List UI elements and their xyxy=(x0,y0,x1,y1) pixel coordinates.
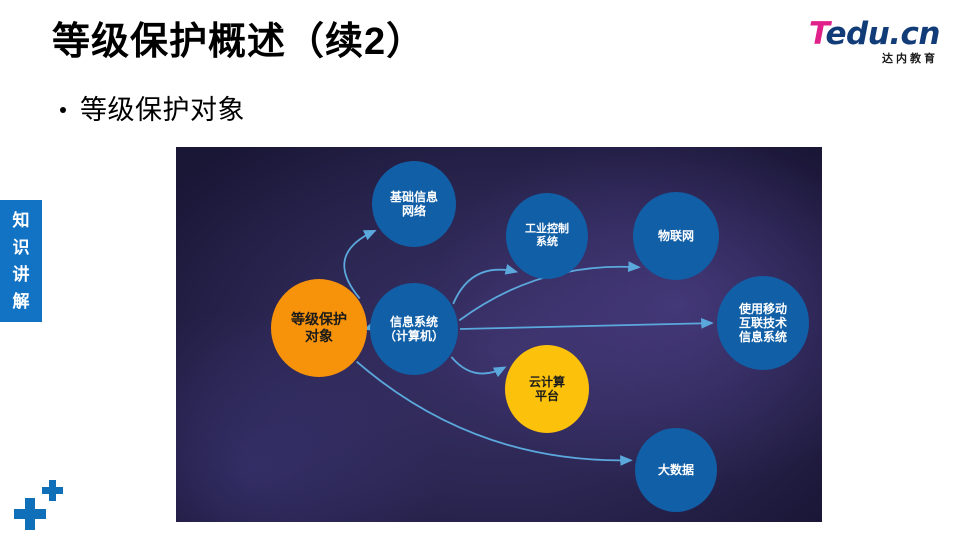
section-tab-knowledge: 知识讲解 xyxy=(0,200,42,322)
diagram-nodes xyxy=(271,161,809,512)
page-title: 等级保护概述（续2） xyxy=(52,18,425,66)
diagram-node-root[interactable] xyxy=(271,279,367,377)
diagram-edge-root-to-network xyxy=(344,231,375,299)
tedu-logo: Tedu.cn 达内教育 xyxy=(800,18,940,70)
bullet-text: 等级保护对象 xyxy=(80,92,245,128)
diagram-node-bigdata[interactable] xyxy=(635,428,717,512)
diagram-svg xyxy=(176,147,822,522)
section-tab-char-1: 识 xyxy=(13,234,30,261)
diagram-edge-infosystem-to-cloud xyxy=(451,357,505,374)
diagram-edge-infosystem-to-industrial xyxy=(453,270,516,304)
diagram-node-industrial[interactable] xyxy=(506,193,588,279)
diagram-node-infosystem[interactable] xyxy=(370,283,458,375)
logo-word-rest: edu.cn xyxy=(825,16,940,52)
bullet-dot-icon xyxy=(60,107,66,113)
logo-wordmark: Tedu.cn xyxy=(800,18,940,50)
logo-letter-t: T xyxy=(809,16,826,52)
diagram-node-mobile[interactable] xyxy=(717,276,809,370)
plus-small-icon xyxy=(42,480,63,501)
diagram-edge-infosystem-to-mobile xyxy=(460,323,712,329)
bullet-item: 等级保护对象 xyxy=(60,92,245,128)
section-tab-char-0: 知 xyxy=(13,207,30,234)
diagram-node-iot[interactable] xyxy=(633,192,719,280)
logo-subtitle: 达内教育 xyxy=(800,51,940,67)
section-tab-char-3: 解 xyxy=(13,288,30,315)
diagram-node-network[interactable] xyxy=(372,161,456,247)
levels-protection-object-diagram: 等级保护 对象基础信息 网络信息系统 （计算机）工业控制 系统物联网使用移动 互… xyxy=(176,147,822,522)
diagram-edge-root-to-bigdata xyxy=(357,362,631,461)
plus-large-icon xyxy=(14,498,46,530)
diagram-node-cloud[interactable] xyxy=(505,345,589,433)
section-tab-char-2: 讲 xyxy=(13,261,30,288)
decorative-plus-group xyxy=(14,480,74,530)
slide-canvas: Tedu.cn 达内教育 等级保护概述（续2） 等级保护对象 知识讲解 等级保护… xyxy=(0,0,960,540)
